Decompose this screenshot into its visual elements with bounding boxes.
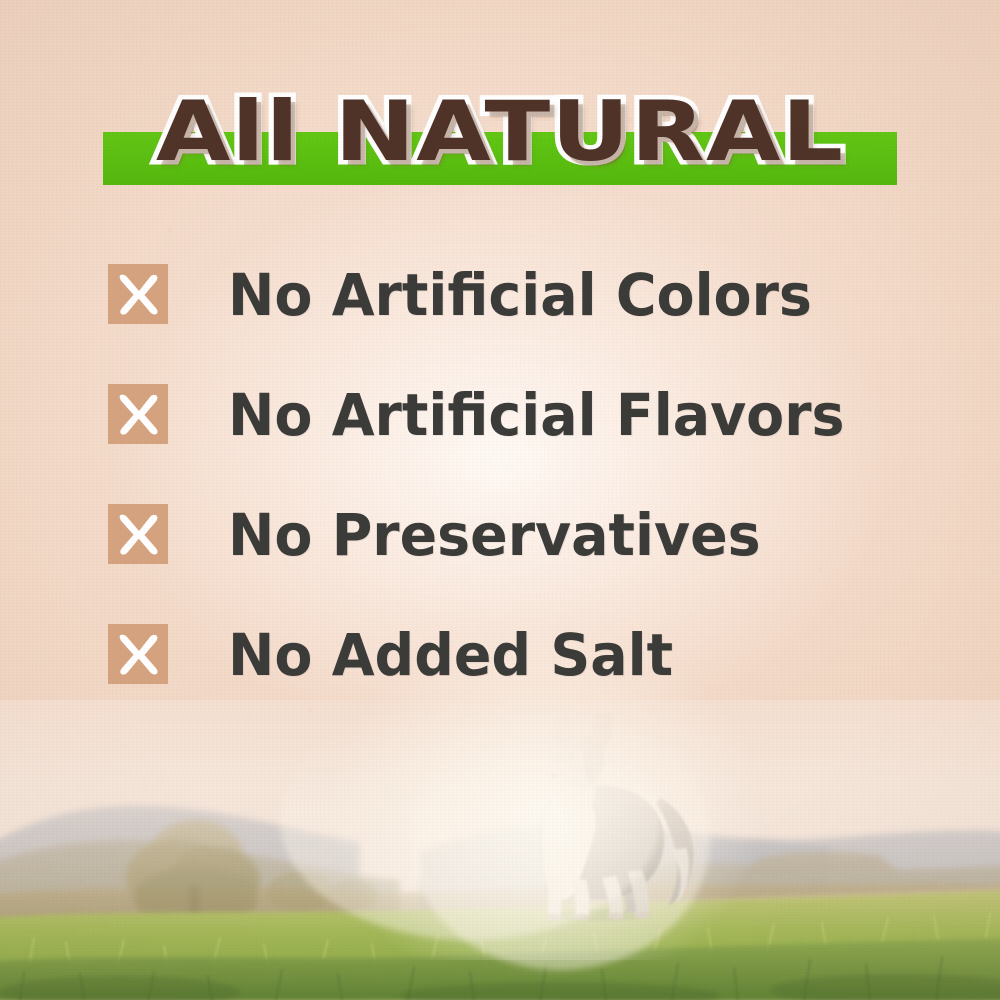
list-item-label: No Preservatives [228,492,761,578]
hero-photo [0,700,1000,1000]
page-title: All NATURAL [0,78,1000,186]
list-item-label: No Added Salt [228,612,673,698]
list-item: No Preservatives [0,498,1000,618]
list-item: No Artificial Flavors [0,378,1000,498]
list-item: No Artificial Colors [0,258,1000,378]
x-mark-icon [108,504,168,564]
list-item-label: No Artificial Colors [228,252,812,338]
list-item-label: No Artificial Flavors [228,372,845,458]
poster-canvas: All NATURAL No Artificial Colors No Arti… [0,0,1000,1000]
x-mark-icon [108,624,168,684]
claims-checklist: No Artificial Colors No Artificial Flavo… [0,258,1000,738]
x-mark-icon [108,384,168,444]
x-mark-icon [108,264,168,324]
landscape-illustration [0,700,1000,1000]
all-natural-banner: All NATURAL [103,132,897,185]
list-item: No Added Salt [0,618,1000,738]
